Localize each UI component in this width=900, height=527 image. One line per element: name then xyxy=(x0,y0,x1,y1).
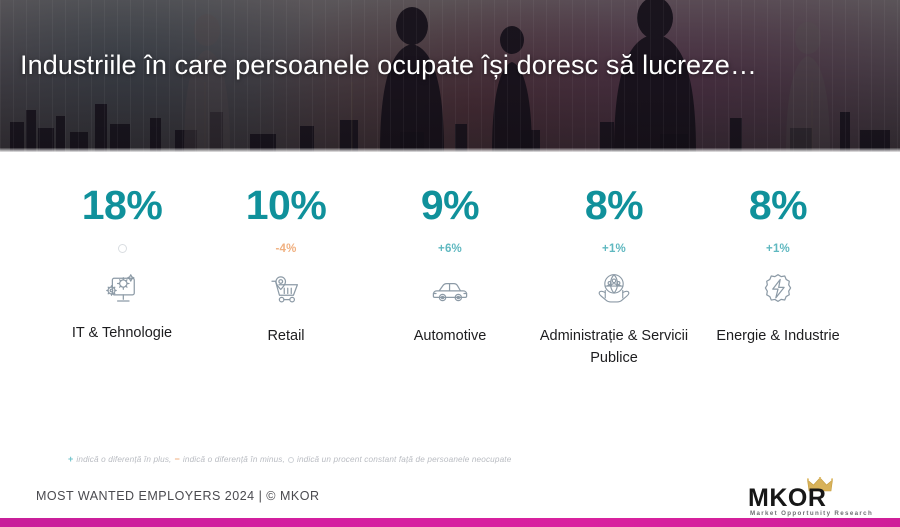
stat-label: Administrație & Servicii Publice xyxy=(534,326,694,370)
stat-card-energie-industrie: 8% +1% Energie & Industrie xyxy=(696,185,860,348)
hands-globe-people-icon xyxy=(593,268,635,312)
stat-card-automotive: 9% +6% Automotive xyxy=(368,185,532,348)
stat-delta: +1% xyxy=(602,242,626,256)
stat-value: 8% xyxy=(585,185,643,226)
car-icon xyxy=(429,268,471,312)
plus-symbol: + xyxy=(68,454,73,464)
stat-label: Retail xyxy=(267,326,304,348)
stat-card-administratie-servicii-publice: 8% +1% Administrație & Servicii Publice xyxy=(532,185,696,370)
bottom-accent-bar xyxy=(0,518,900,527)
stat-value: 18% xyxy=(82,185,163,226)
mkor-wordmark: MKOR xyxy=(748,486,826,511)
footnote-plus-text: indică o diferență în plus, xyxy=(76,455,171,464)
minus-symbol: − xyxy=(175,454,180,464)
stat-label: Energie & Industrie xyxy=(716,326,839,348)
banner-bottom-edge xyxy=(0,148,900,152)
shopping-cart-pin-icon xyxy=(265,268,307,312)
mkor-logo: MKOR Market Opportunity Research xyxy=(738,480,878,520)
footnote-legend: + indică o diferență în plus, − indică o… xyxy=(68,454,511,464)
stat-label: Automotive xyxy=(414,326,487,348)
mkor-tagline: Market Opportunity Research xyxy=(750,510,873,517)
stats-row: 18% IT & Tehnologie 10% -4% xyxy=(0,185,900,370)
footnote-circle-text: indică un procent constant față de perso… xyxy=(297,455,511,464)
footer: MOST WANTED EMPLOYERS 2024 | © MKOR MKOR… xyxy=(0,475,900,527)
gear-lightning-icon xyxy=(757,268,799,312)
stat-value: 8% xyxy=(749,185,807,226)
stat-card-it-tehnologie: 18% IT & Tehnologie xyxy=(40,185,204,345)
stat-value: 9% xyxy=(421,185,479,226)
stat-delta: -4% xyxy=(275,242,296,256)
footer-caption: MOST WANTED EMPLOYERS 2024 | © MKOR xyxy=(36,489,320,503)
page-title: Industriile în care persoanele ocupate î… xyxy=(20,50,880,81)
footnote-minus-text: indică o diferență în minus, xyxy=(183,455,285,464)
stat-delta: +1% xyxy=(766,242,790,256)
monitor-gears-icon xyxy=(101,265,143,309)
stat-card-retail: 10% -4% Retail xyxy=(204,185,368,348)
stat-label: IT & Tehnologie xyxy=(72,323,172,345)
circle-symbol-icon xyxy=(288,457,294,463)
stat-value: 10% xyxy=(246,185,327,226)
delta-flat-circle-icon xyxy=(118,244,127,253)
stat-delta: +6% xyxy=(438,242,462,256)
header-banner: Industriile în care persoanele ocupate î… xyxy=(0,0,900,152)
